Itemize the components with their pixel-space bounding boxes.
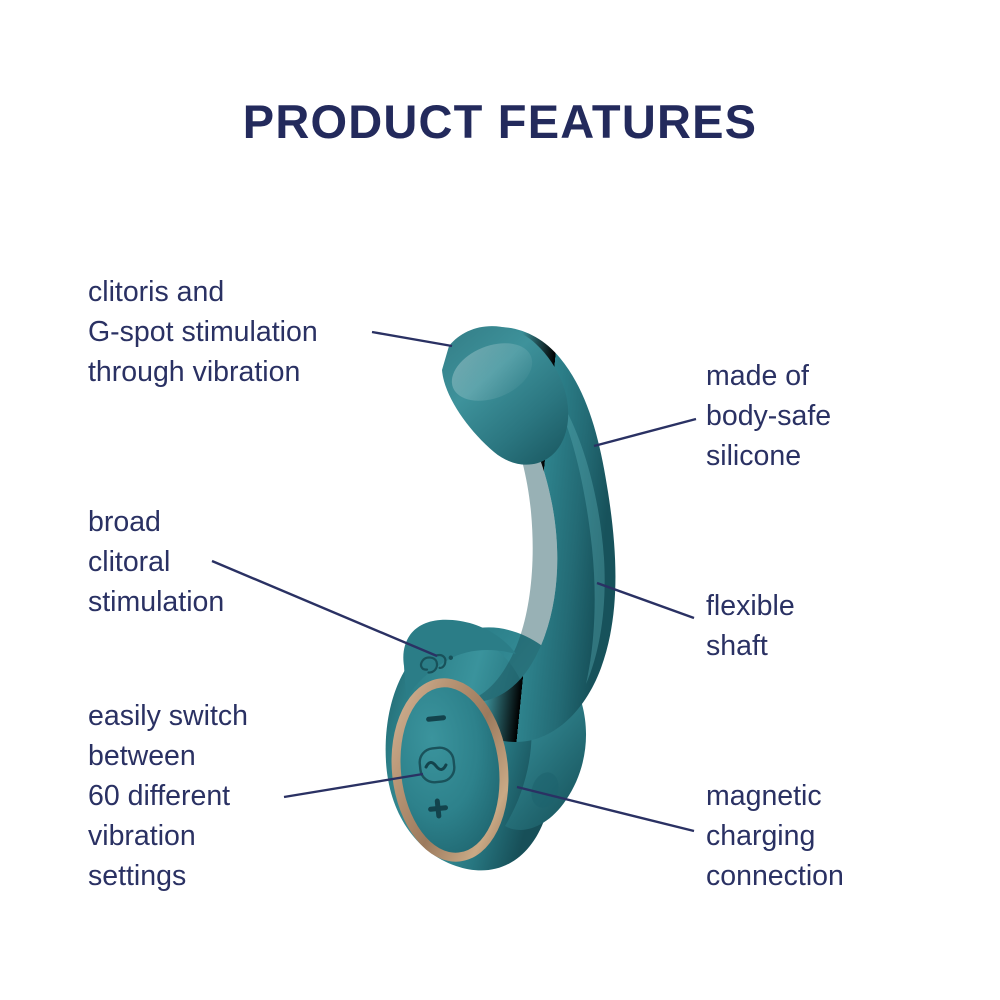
callout-body-safe-silicone: made of body-safe silicone	[706, 356, 946, 476]
callout-clitoris-g-spot: clitoris and G-spot stimulation through …	[88, 272, 388, 392]
callout-flexible-shaft: flexible shaft	[706, 586, 946, 666]
product-features-page: PRODUCT FEATURES	[0, 0, 1000, 1000]
callout-vibration-settings: easily switch between 60 different vibra…	[88, 696, 338, 896]
callout-broad-clitoral: broad clitoral stimulation	[88, 502, 318, 622]
callout-magnetic-charging: magnetic charging connection	[706, 776, 956, 896]
